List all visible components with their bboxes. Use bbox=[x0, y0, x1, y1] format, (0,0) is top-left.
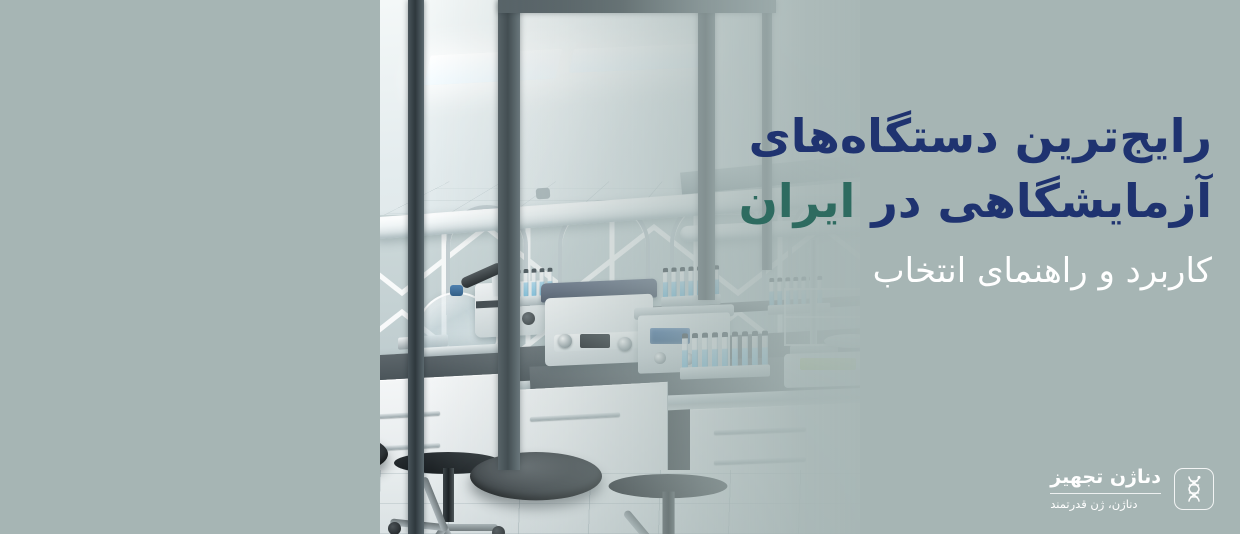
microscope-focus-knob bbox=[522, 312, 535, 325]
benchtop-centrifuge bbox=[545, 294, 653, 367]
logo-text-block: دناژن تجهیز دناژن، ژن قدرتمند bbox=[1050, 466, 1161, 512]
centrifuge-dial bbox=[558, 334, 572, 348]
headline-line-1: رایج‌ترین دستگاه‌های bbox=[742, 104, 1212, 169]
glass-partition-header bbox=[498, 0, 776, 13]
centrifuge-dial bbox=[618, 337, 632, 351]
glass-partition-mullion bbox=[408, 0, 424, 534]
glass-partition-mullion bbox=[498, 0, 520, 470]
glass-partition-mullion bbox=[698, 0, 715, 300]
logo-name: دناژن تجهیز bbox=[1050, 466, 1161, 493]
centrifuge-display bbox=[580, 334, 610, 348]
headline-line-2-prefix: آزمایشگاهی در bbox=[855, 174, 1212, 228]
headline-block: رایج‌ترین دستگاه‌های آزمایشگاهی در ایران… bbox=[742, 104, 1212, 295]
rail-node bbox=[536, 188, 551, 200]
test-tube-rack bbox=[680, 334, 770, 337]
brand-logo[interactable]: دناژن تجهیز دناژن، ژن قدرتمند bbox=[1050, 466, 1214, 512]
logo-tagline: دناژن، ژن قدرتمند bbox=[1050, 494, 1161, 512]
subtitle: کاربرد و راهنمای انتخاب bbox=[742, 249, 1212, 295]
led-panel-light bbox=[424, 49, 563, 86]
desiccator-knob bbox=[450, 285, 463, 296]
balance-display bbox=[800, 358, 856, 370]
dna-helix-icon bbox=[1174, 468, 1214, 510]
headline-line-2: آزمایشگاهی در ایران bbox=[742, 169, 1212, 234]
ultrasonic-bath-knob bbox=[654, 352, 666, 364]
led-panel-light bbox=[569, 43, 707, 73]
headline-accent-iran: ایران bbox=[739, 174, 856, 228]
promo-banner: رایج‌ترین دستگاه‌های آزمایشگاهی در ایران… bbox=[0, 0, 1240, 534]
